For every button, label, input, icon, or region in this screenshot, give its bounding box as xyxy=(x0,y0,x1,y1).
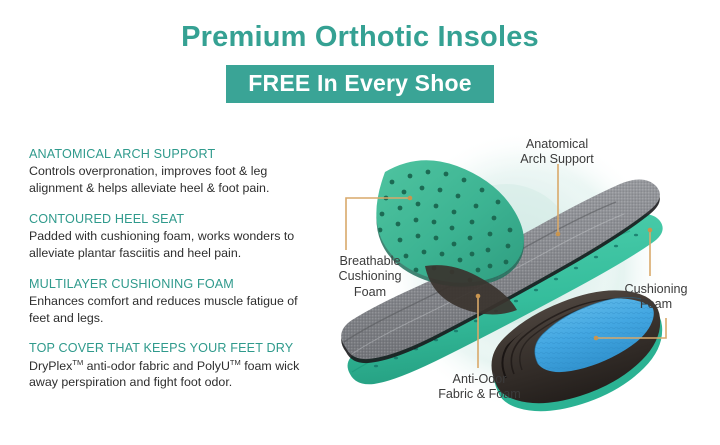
feature-body: DryPlexTM anti-odor fabric and PolyUTM f… xyxy=(29,358,319,392)
callout-breathable-cushioning-foam: Breathable Cushioning Foam xyxy=(315,254,425,300)
feature-body: Enhances comfort and reduces muscle fati… xyxy=(29,293,319,327)
feature-title: ANATOMICAL ARCH SUPPORT xyxy=(29,146,329,162)
feature-item-arch-support: ANATOMICAL ARCH SUPPORT Controls overpro… xyxy=(29,146,329,197)
trademark-symbol: TM xyxy=(72,357,83,366)
feature-item-top-cover: TOP COVER THAT KEEPS YOUR FEET DRY DryPl… xyxy=(29,340,329,391)
feature-body-segment: anti-odor fabric and PolyU xyxy=(83,359,230,373)
badge-container: FREE In Every Shoe xyxy=(0,65,720,103)
insole-product-infographic: Premium Orthotic Insoles FREE In Every S… xyxy=(0,0,720,445)
feature-item-heel-seat: CONTOURED HEEL SEAT Padded with cushioni… xyxy=(29,211,329,262)
callout-anatomical-arch-support: Anatomical Arch Support xyxy=(492,137,622,168)
feature-body: Padded with cushioning foam, works wonde… xyxy=(29,228,319,262)
feature-body: Controls overpronation, improves foot & … xyxy=(29,163,319,197)
feature-item-cushioning-foam: MULTILAYER CUSHIONING FOAM Enhances comf… xyxy=(29,276,329,327)
feature-list: ANATOMICAL ARCH SUPPORT Controls overpro… xyxy=(29,146,329,391)
product-illustration: Anatomical Arch Support Breathable Cushi… xyxy=(330,120,720,445)
trademark-symbol: TM xyxy=(230,357,241,366)
header: Premium Orthotic Insoles FREE In Every S… xyxy=(0,0,720,103)
callout-anti-odor-fabric-and-foam: Anti-Odor Fabric & Foam xyxy=(402,372,557,403)
page-title: Premium Orthotic Insoles xyxy=(0,22,720,54)
free-in-every-shoe-badge: FREE In Every Shoe xyxy=(226,65,493,103)
feature-body-segment: DryPlex xyxy=(29,359,72,373)
feature-title: CONTOURED HEEL SEAT xyxy=(29,211,329,227)
callout-cushioning-foam: Cushioning Foam xyxy=(600,282,712,313)
feature-title: MULTILAYER CUSHIONING FOAM xyxy=(29,276,329,292)
feature-title: TOP COVER THAT KEEPS YOUR FEET DRY xyxy=(29,340,329,356)
